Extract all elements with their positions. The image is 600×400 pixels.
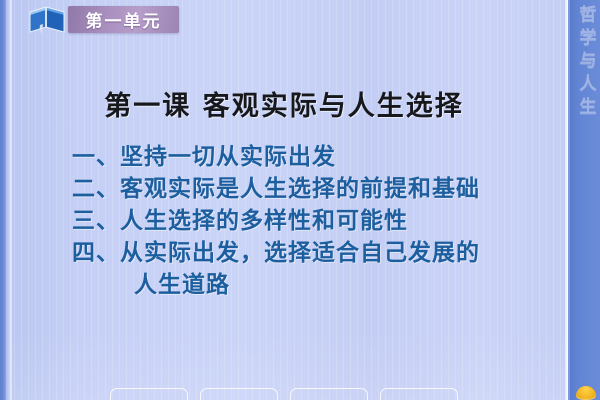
- nav-button-3[interactable]: [290, 388, 368, 400]
- outline-item-3: 三、人生选择的多样性和可能性: [72, 205, 542, 237]
- slide-header: 第一单元: [0, 0, 600, 40]
- page-title: 第一课 客观实际与人生选择: [0, 84, 568, 123]
- unit-badge: 第一单元: [68, 6, 179, 33]
- left-edge-hairline: [10, 0, 12, 400]
- open-book-icon: [27, 3, 69, 37]
- outline-item-4: 四、从实际出发，选择适合自己发展的: [72, 237, 542, 269]
- sun-badge-icon: [576, 386, 596, 400]
- outline-item-1: 一、坚持一切从实际出发: [72, 141, 542, 173]
- nav-button-4[interactable]: [380, 388, 458, 400]
- sidebar: 哲学与人生: [570, 0, 600, 400]
- outline-list: 一、坚持一切从实际出发 二、客观实际是人生选择的前提和基础 三、人生选择的多样性…: [72, 141, 542, 301]
- unit-badge-label: 第一单元: [86, 7, 162, 32]
- outline-item-2: 二、客观实际是人生选择的前提和基础: [72, 173, 542, 205]
- nav-button-2[interactable]: [200, 388, 278, 400]
- presentation-slide: 第一单元 第一课 客观实际与人生选择 一、坚持一切从实际出发 二、客观实际是人生…: [0, 0, 600, 400]
- outline-item-4-continuation: 人生道路: [72, 269, 542, 301]
- sidebar-title-vertical: 哲学与人生: [577, 5, 594, 120]
- nav-button-1[interactable]: [110, 388, 188, 400]
- slide-nav-buttons: [0, 388, 568, 400]
